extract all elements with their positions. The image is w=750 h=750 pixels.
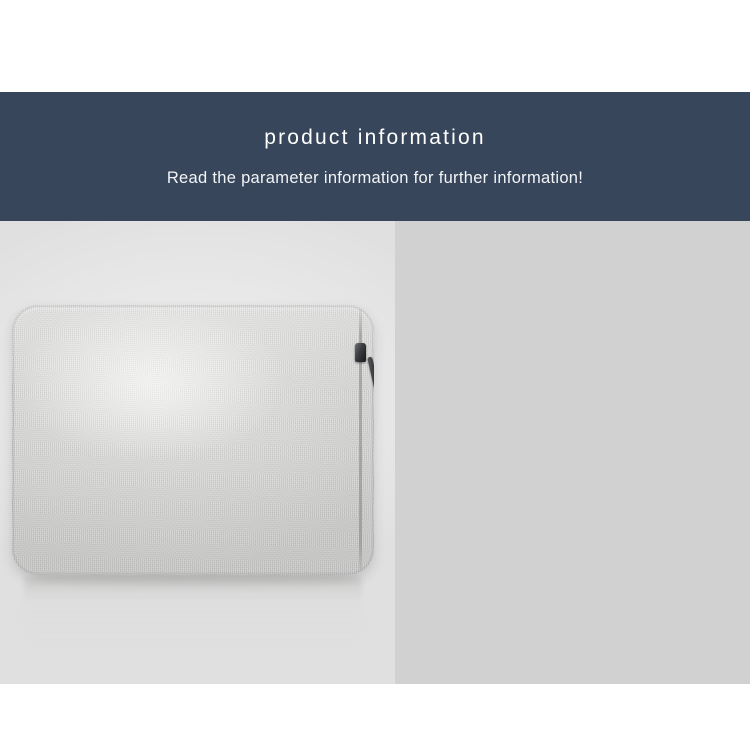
product-photo [0,221,395,684]
content-area: inch external internal weight 11.6 33.5×… [0,221,750,684]
page-subtitle: Read the parameter information for furth… [167,170,583,187]
page-title: product information [264,127,486,148]
specification-panel: inch external internal weight 11.6 33.5×… [395,221,750,684]
zipper-slider-icon [355,343,366,362]
product-reflection [24,577,362,647]
product-image-panel [0,221,395,684]
laptop-sleeve-image [12,305,374,575]
page-header-banner: product information Read the parameter i… [0,92,750,221]
fabric-sheen [12,305,374,575]
